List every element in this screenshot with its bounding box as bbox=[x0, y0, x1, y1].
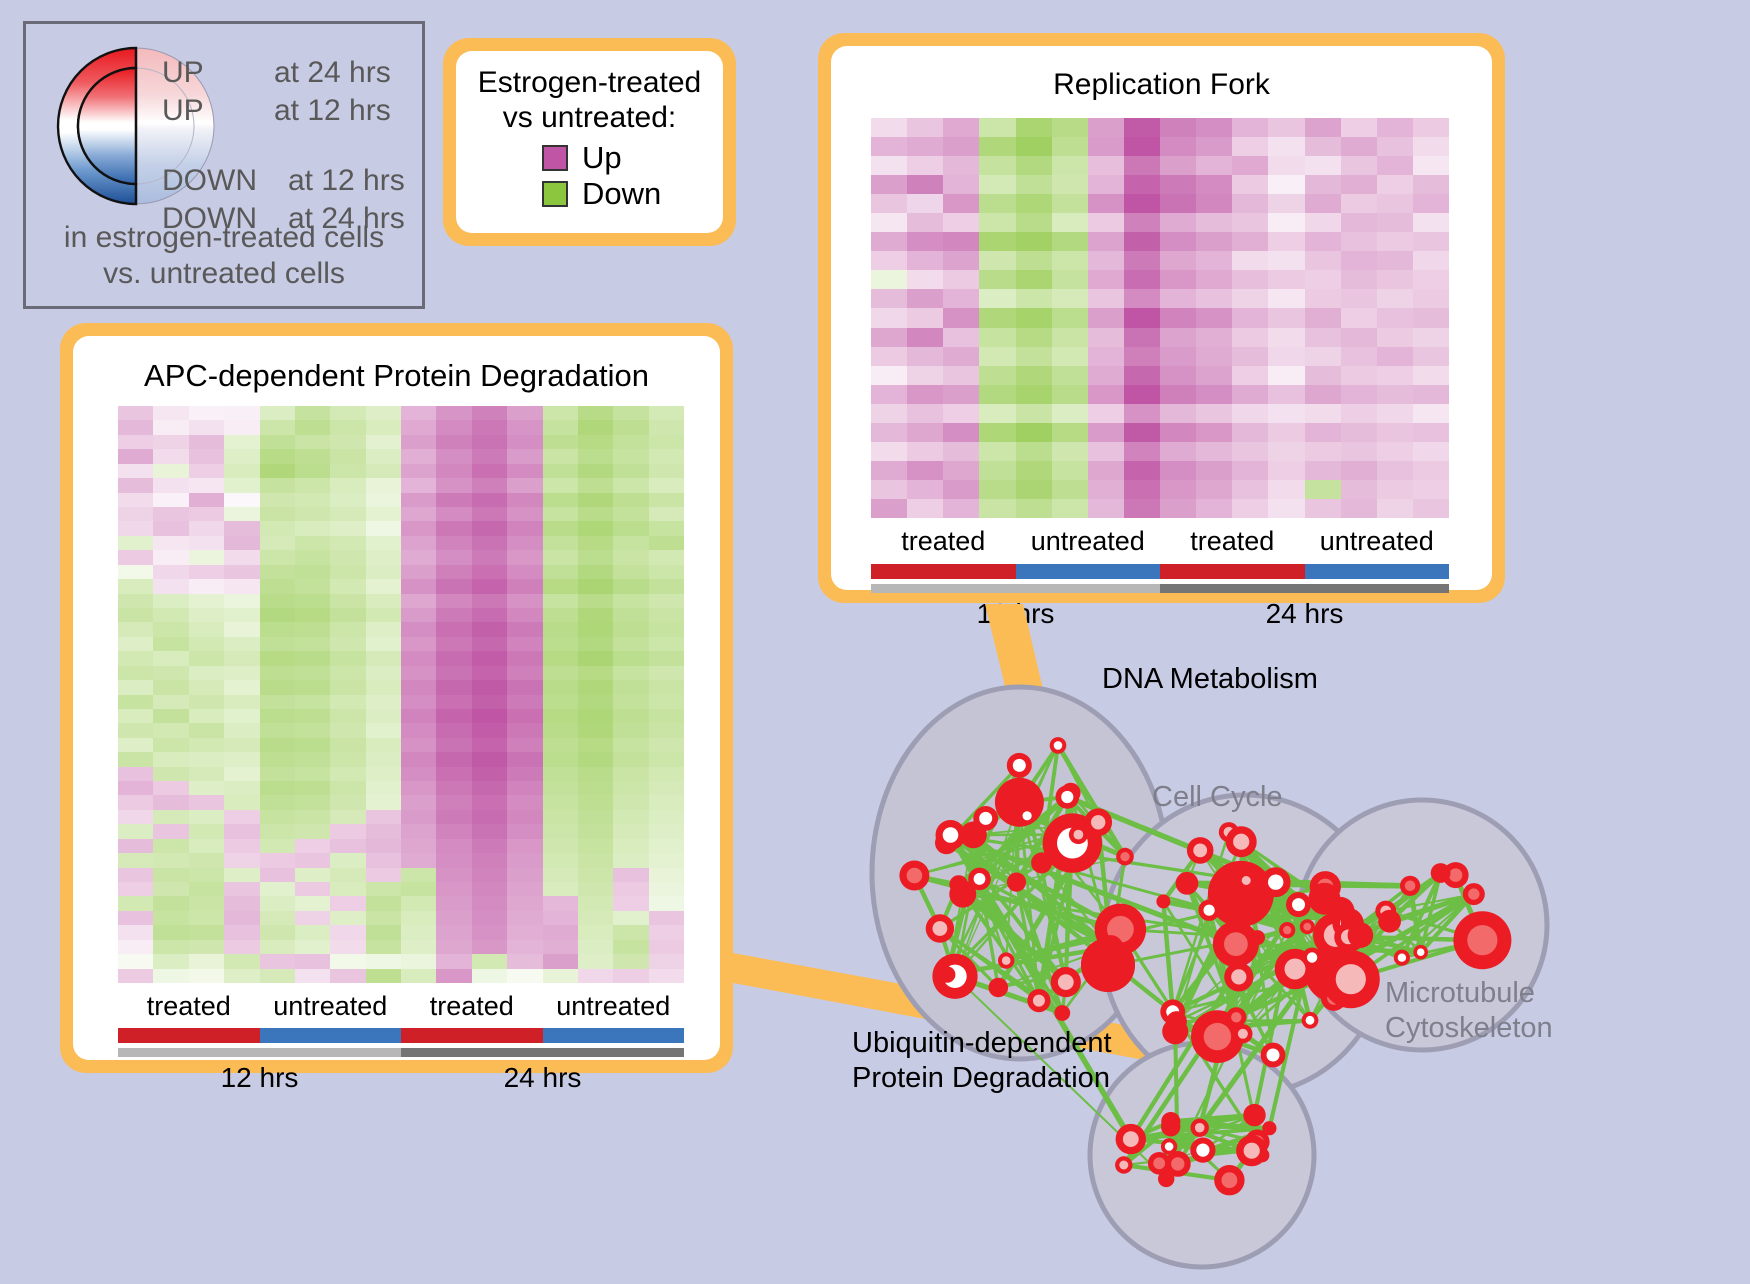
network-node[interactable] bbox=[1453, 911, 1511, 969]
network-node[interactable] bbox=[1261, 1043, 1286, 1068]
heatmap-cell bbox=[330, 781, 365, 795]
heatmap-cell bbox=[224, 969, 259, 983]
replication-fork-heatmap bbox=[871, 118, 1449, 518]
network-node[interactable] bbox=[1116, 848, 1134, 866]
heatmap-cell bbox=[366, 435, 401, 449]
heatmap-cell bbox=[118, 550, 153, 564]
heatmap-cell bbox=[330, 738, 365, 752]
heatmap-cell bbox=[1341, 308, 1377, 327]
heatmap-cell bbox=[189, 810, 224, 824]
column-group-label: treated bbox=[401, 991, 543, 1022]
heatmap-cell bbox=[1377, 156, 1413, 175]
heatmap-cell bbox=[1305, 175, 1341, 194]
network-node[interactable] bbox=[1054, 1005, 1070, 1021]
heatmap-cell bbox=[153, 637, 188, 651]
heatmap-cell bbox=[578, 651, 613, 665]
network-node[interactable] bbox=[1166, 1011, 1187, 1032]
heatmap-cell bbox=[330, 637, 365, 651]
network-node[interactable] bbox=[1431, 863, 1451, 883]
heatmap-cell bbox=[118, 925, 153, 939]
heatmap-cell bbox=[543, 608, 578, 622]
heatmap-cell bbox=[224, 666, 259, 680]
heatmap-cell bbox=[224, 449, 259, 463]
heatmap-cell bbox=[260, 723, 295, 737]
network-node[interactable] bbox=[1198, 900, 1219, 921]
heatmap-cell bbox=[189, 406, 224, 420]
heatmap-cell bbox=[1124, 213, 1160, 232]
network-node[interactable] bbox=[1233, 1024, 1252, 1043]
heatmap-cell bbox=[1124, 404, 1160, 423]
heatmap-cell bbox=[1052, 404, 1088, 423]
heatmap-cell bbox=[507, 969, 542, 983]
network-node[interactable] bbox=[1187, 837, 1214, 864]
heatmap-cell bbox=[295, 622, 330, 636]
heatmap-cell bbox=[189, 911, 224, 925]
network-node[interactable] bbox=[1238, 872, 1255, 889]
heatmap-cell bbox=[260, 435, 295, 449]
treatment-bar bbox=[118, 1028, 260, 1043]
heatmap-cell bbox=[472, 810, 507, 824]
heatmap-cell bbox=[1305, 213, 1341, 232]
heatmap-cell bbox=[118, 507, 153, 521]
heatmap-cell bbox=[1341, 137, 1377, 156]
network-node-core bbox=[1023, 811, 1032, 820]
network-node[interactable] bbox=[1279, 922, 1295, 938]
heatmap-cell bbox=[153, 608, 188, 622]
heatmap-cell bbox=[1196, 251, 1232, 270]
heatmap-cell bbox=[543, 824, 578, 838]
heatmap-cell bbox=[543, 882, 578, 896]
network-node[interactable] bbox=[1236, 1135, 1267, 1166]
heatmap-cell bbox=[943, 175, 979, 194]
heatmap-cell bbox=[224, 493, 259, 507]
heatmap-cell bbox=[436, 464, 471, 478]
heatmap-cell bbox=[189, 507, 224, 521]
network-node[interactable] bbox=[989, 978, 1009, 998]
heatmap-cell bbox=[118, 420, 153, 434]
heatmap-cell bbox=[295, 449, 330, 463]
heatmap-cell bbox=[613, 752, 648, 766]
heatmap-cell bbox=[330, 449, 365, 463]
heatmap-cell bbox=[543, 666, 578, 680]
network-node[interactable] bbox=[1400, 876, 1420, 896]
heatmap-cell bbox=[401, 449, 436, 463]
network-node[interactable] bbox=[939, 966, 955, 982]
network-node-core bbox=[1306, 1016, 1315, 1025]
heatmap-cell bbox=[1341, 461, 1377, 480]
network-node[interactable] bbox=[1463, 883, 1485, 905]
network-node[interactable] bbox=[1308, 883, 1340, 915]
heatmap-cell bbox=[260, 464, 295, 478]
heatmap-cell bbox=[543, 420, 578, 434]
network-node-core bbox=[1233, 834, 1249, 850]
time-bar bbox=[871, 584, 1160, 593]
heatmap-cell bbox=[507, 478, 542, 492]
heatmap-cell bbox=[507, 868, 542, 882]
heatmap-cell bbox=[1341, 423, 1377, 442]
heatmap-cell bbox=[507, 536, 542, 550]
heatmap-cell bbox=[1377, 232, 1413, 251]
heatmap-cell bbox=[295, 767, 330, 781]
heatmap-cell bbox=[401, 954, 436, 968]
heatmap-cell bbox=[507, 853, 542, 867]
heatmap-cell bbox=[118, 536, 153, 550]
network-node[interactable] bbox=[998, 952, 1014, 968]
heatmap-cell bbox=[578, 579, 613, 593]
heatmap-cell bbox=[189, 594, 224, 608]
heatmap-cell bbox=[649, 579, 684, 593]
heatmap-cell bbox=[507, 781, 542, 795]
heatmap-cell bbox=[189, 695, 224, 709]
heatmap-cell bbox=[224, 752, 259, 766]
heatmap-cell bbox=[1016, 213, 1052, 232]
network-node[interactable] bbox=[1261, 867, 1291, 897]
heatmap-cell bbox=[578, 896, 613, 910]
heatmap-cell bbox=[366, 406, 401, 420]
heatmap-cell bbox=[153, 925, 188, 939]
heatmap-cell bbox=[436, 940, 471, 954]
heatmap-cell bbox=[366, 911, 401, 925]
heatmap-cell bbox=[507, 795, 542, 809]
heatmap-cell bbox=[1088, 461, 1124, 480]
heatmap-cell bbox=[366, 896, 401, 910]
heatmap-cell bbox=[613, 709, 648, 723]
heatmap-cell bbox=[366, 594, 401, 608]
network-node[interactable] bbox=[1213, 921, 1259, 967]
heatmap-cell bbox=[153, 507, 188, 521]
time-bar bbox=[1160, 584, 1449, 593]
heatmap-cell bbox=[260, 810, 295, 824]
column-group-label: treated bbox=[118, 991, 260, 1022]
network-node[interactable] bbox=[1027, 989, 1050, 1012]
heatmap-cell bbox=[1088, 385, 1124, 404]
network-node[interactable] bbox=[1378, 910, 1401, 933]
network-node[interactable] bbox=[1056, 785, 1080, 809]
heatmap-cell bbox=[118, 940, 153, 954]
heatmap-cell bbox=[649, 810, 684, 824]
heatmap-cell bbox=[436, 839, 471, 853]
cluster-label-cell-cycle: Cell Cycle bbox=[1152, 780, 1283, 815]
network-node[interactable] bbox=[1302, 1012, 1319, 1029]
network-node-core bbox=[1267, 1049, 1280, 1062]
heatmap-cell bbox=[330, 954, 365, 968]
network-node[interactable] bbox=[1148, 1152, 1171, 1175]
heatmap-cell bbox=[153, 940, 188, 954]
heatmap-cell bbox=[366, 579, 401, 593]
heatmap-cell bbox=[649, 594, 684, 608]
heatmap-cell bbox=[1232, 175, 1268, 194]
heatmap-cell bbox=[871, 251, 907, 270]
network-node[interactable] bbox=[1031, 852, 1052, 873]
heatmap-cell bbox=[189, 464, 224, 478]
heatmap-cell bbox=[224, 435, 259, 449]
heatmap-cell bbox=[1124, 137, 1160, 156]
heatmap-cell bbox=[401, 795, 436, 809]
heatmap-cell bbox=[507, 608, 542, 622]
network-node[interactable] bbox=[1050, 737, 1067, 754]
heatmap-cell bbox=[118, 435, 153, 449]
heatmap-cell bbox=[366, 666, 401, 680]
network-node[interactable] bbox=[1176, 872, 1199, 895]
heatmap-cell bbox=[871, 461, 907, 480]
legend-direction-up12: UP bbox=[162, 94, 204, 128]
network-node-core bbox=[1171, 1157, 1184, 1170]
network-node[interactable] bbox=[1348, 922, 1374, 948]
network-node[interactable] bbox=[1214, 1165, 1244, 1195]
heatmap-cell bbox=[1016, 118, 1052, 137]
heatmap-cell bbox=[1124, 118, 1160, 137]
network-node[interactable] bbox=[1224, 962, 1253, 991]
network-node[interactable] bbox=[1051, 967, 1081, 997]
network-node[interactable] bbox=[1300, 919, 1315, 934]
heatmap-cell bbox=[224, 550, 259, 564]
heatmap-cell bbox=[260, 767, 295, 781]
heatmap-cell bbox=[401, 911, 436, 925]
heatmap-cell bbox=[189, 940, 224, 954]
heatmap-cell bbox=[436, 406, 471, 420]
network-node[interactable] bbox=[1208, 861, 1274, 927]
heatmap-cell bbox=[153, 839, 188, 853]
heatmap-cell bbox=[118, 738, 153, 752]
heatmap-cell bbox=[366, 464, 401, 478]
network-node[interactable] bbox=[1243, 1104, 1265, 1126]
heatmap-cell bbox=[507, 680, 542, 694]
network-node[interactable] bbox=[1161, 1117, 1180, 1136]
heatmap-cell bbox=[543, 406, 578, 420]
heatmap-cell bbox=[436, 579, 471, 593]
heatmap-cell bbox=[472, 464, 507, 478]
network-node[interactable] bbox=[1191, 1119, 1209, 1137]
down-swatch-icon bbox=[542, 181, 568, 207]
heatmap-cell bbox=[507, 911, 542, 925]
network-node[interactable] bbox=[1115, 1156, 1132, 1173]
heatmap-cell bbox=[979, 328, 1015, 347]
heatmap-cell bbox=[1377, 499, 1413, 518]
heatmap-cell bbox=[943, 232, 979, 251]
heatmap-cell bbox=[224, 738, 259, 752]
heatmap-cell bbox=[543, 464, 578, 478]
network-node[interactable] bbox=[1250, 930, 1265, 945]
heatmap-cell bbox=[1377, 423, 1413, 442]
heatmap-cell bbox=[118, 824, 153, 838]
heatmap-cell bbox=[472, 940, 507, 954]
heatmap-cell bbox=[1341, 175, 1377, 194]
heatmap-cell bbox=[907, 347, 943, 366]
network-node[interactable] bbox=[1116, 1124, 1146, 1154]
heatmap-cell bbox=[153, 493, 188, 507]
network-node[interactable] bbox=[1262, 1121, 1276, 1135]
heatmap-cell bbox=[436, 493, 471, 507]
heatmap-cell bbox=[543, 493, 578, 507]
heatmap-cell bbox=[472, 882, 507, 896]
network-node[interactable] bbox=[1286, 892, 1311, 917]
heatmap-cell bbox=[1268, 366, 1304, 385]
heatmap-cell bbox=[118, 868, 153, 882]
network-node-core bbox=[933, 921, 948, 936]
heatmap-cell bbox=[189, 680, 224, 694]
network-node[interactable] bbox=[1302, 948, 1322, 968]
heatmap-cell bbox=[1052, 194, 1088, 213]
heatmap-cell bbox=[907, 385, 943, 404]
heatmap-cell bbox=[260, 565, 295, 579]
heatmap-cell bbox=[543, 449, 578, 463]
heatmap-cell bbox=[1016, 442, 1052, 461]
heatmap-cell bbox=[224, 767, 259, 781]
heatmap-cell bbox=[118, 695, 153, 709]
network-node[interactable] bbox=[1156, 894, 1170, 908]
network-node-core bbox=[1307, 952, 1317, 962]
heatmap-cell bbox=[401, 608, 436, 622]
heatmap-cell bbox=[401, 637, 436, 651]
heatmap-cell bbox=[366, 853, 401, 867]
heatmap-cell bbox=[472, 954, 507, 968]
legend-item-up: Up bbox=[542, 141, 713, 175]
heatmap-cell bbox=[578, 738, 613, 752]
network-node[interactable] bbox=[1226, 826, 1257, 857]
heatmap-cell bbox=[943, 328, 979, 347]
heatmap-cell bbox=[943, 156, 979, 175]
heatmap-cell bbox=[979, 308, 1015, 327]
heatmap-cell bbox=[1341, 289, 1377, 308]
heatmap-cell bbox=[649, 969, 684, 983]
heatmap-cell bbox=[578, 435, 613, 449]
heatmap-cell bbox=[472, 868, 507, 882]
heatmap-cell bbox=[543, 940, 578, 954]
heatmap-cell bbox=[907, 156, 943, 175]
heatmap-cell bbox=[578, 911, 613, 925]
heatmap-cell bbox=[1052, 499, 1088, 518]
network-node[interactable] bbox=[973, 806, 998, 831]
heatmap-cell bbox=[189, 637, 224, 651]
heatmap-cell bbox=[979, 175, 1015, 194]
heatmap-cell bbox=[507, 925, 542, 939]
heatmap-cell bbox=[907, 175, 943, 194]
heatmap-cell bbox=[330, 594, 365, 608]
heatmap-cell bbox=[260, 738, 295, 752]
heatmap-cell bbox=[507, 594, 542, 608]
heatmap-cell bbox=[1196, 232, 1232, 251]
heatmap-cell bbox=[1196, 366, 1232, 385]
heatmap-cell bbox=[224, 781, 259, 795]
heatmap-cell bbox=[118, 579, 153, 593]
treatment-bar bbox=[543, 1028, 685, 1043]
heatmap-cell bbox=[401, 767, 436, 781]
heatmap-cell bbox=[578, 695, 613, 709]
heatmap-cell bbox=[153, 565, 188, 579]
network-node-core bbox=[1303, 923, 1311, 931]
heatmap-cell bbox=[224, 911, 259, 925]
heatmap-cell bbox=[613, 651, 648, 665]
network-node[interactable] bbox=[926, 914, 954, 942]
colorwheel-legend-box: UP at 24 hrs UP at 12 hrs DOWN at 12 hrs… bbox=[23, 21, 425, 309]
heatmap-cell bbox=[436, 435, 471, 449]
heatmap-cell bbox=[436, 478, 471, 492]
network-node[interactable] bbox=[1161, 1138, 1177, 1154]
heatmap-cell bbox=[366, 738, 401, 752]
heatmap-cell bbox=[578, 767, 613, 781]
network-node[interactable] bbox=[1413, 945, 1428, 960]
heatmap-cell bbox=[1052, 461, 1088, 480]
network-node[interactable] bbox=[968, 868, 991, 891]
network-node[interactable] bbox=[1069, 825, 1088, 844]
heatmap-cell bbox=[260, 449, 295, 463]
heatmap-cell bbox=[613, 608, 648, 622]
heatmap-cell bbox=[224, 594, 259, 608]
heatmap-cell bbox=[330, 651, 365, 665]
heatmap-cell bbox=[613, 954, 648, 968]
heatmap-cell bbox=[153, 478, 188, 492]
heatmap-cell bbox=[578, 940, 613, 954]
heatmap-cell bbox=[1052, 442, 1088, 461]
heatmap-cell bbox=[1088, 499, 1124, 518]
heatmap-cell bbox=[1341, 232, 1377, 251]
network-node[interactable] bbox=[936, 820, 966, 850]
network-node[interactable] bbox=[1084, 808, 1112, 836]
network-node-core bbox=[1222, 1172, 1238, 1188]
heatmap-cell bbox=[153, 795, 188, 809]
heatmap-cell bbox=[1268, 194, 1304, 213]
heatmap-cell bbox=[295, 752, 330, 766]
heatmap-cell bbox=[401, 666, 436, 680]
heatmap-cell bbox=[472, 738, 507, 752]
network-node[interactable] bbox=[1322, 950, 1380, 1008]
network-node[interactable] bbox=[1081, 938, 1135, 992]
heatmap-cell bbox=[224, 824, 259, 838]
heatmap-cell bbox=[436, 521, 471, 535]
heatmap-cell bbox=[907, 461, 943, 480]
network-node[interactable] bbox=[1007, 873, 1026, 892]
network-node[interactable] bbox=[899, 861, 929, 891]
heatmap-cell bbox=[472, 723, 507, 737]
network-node[interactable] bbox=[1394, 950, 1410, 966]
network-node-core bbox=[974, 873, 986, 885]
heatmap-cell bbox=[189, 651, 224, 665]
heatmap-cell bbox=[189, 839, 224, 853]
estrogen-legend-inner: Estrogen-treated vs untreated: Up Down bbox=[456, 51, 723, 233]
heatmap-cell bbox=[153, 464, 188, 478]
heatmap-cell bbox=[907, 499, 943, 518]
heatmap-cell bbox=[295, 493, 330, 507]
network-node[interactable] bbox=[1007, 753, 1032, 778]
heatmap-cell bbox=[943, 499, 979, 518]
heatmap-cell bbox=[1377, 308, 1413, 327]
heatmap-cell bbox=[1341, 347, 1377, 366]
heatmap-cell bbox=[507, 521, 542, 535]
heatmap-cell bbox=[260, 550, 295, 564]
network-node[interactable] bbox=[1190, 1138, 1215, 1163]
heatmap-cell bbox=[871, 175, 907, 194]
network-node[interactable] bbox=[1018, 807, 1036, 825]
heatmap-cell bbox=[436, 651, 471, 665]
heatmap-cell bbox=[1196, 442, 1232, 461]
heatmap-cell bbox=[1160, 156, 1196, 175]
heatmap-cell bbox=[578, 969, 613, 983]
column-group-label: untreated bbox=[260, 991, 402, 1022]
heatmap-cell bbox=[1016, 385, 1052, 404]
heatmap-cell bbox=[1160, 328, 1196, 347]
heatmap-cell bbox=[189, 536, 224, 550]
heatmap-cell bbox=[295, 940, 330, 954]
heatmap-cell bbox=[295, 738, 330, 752]
network-node-core bbox=[1061, 791, 1073, 803]
heatmap-cell bbox=[366, 680, 401, 694]
heatmap-cell bbox=[1341, 213, 1377, 232]
heatmap-cell bbox=[436, 709, 471, 723]
heatmap-cell bbox=[1124, 423, 1160, 442]
heatmap-cell bbox=[1160, 289, 1196, 308]
heatmap-cell bbox=[189, 781, 224, 795]
heatmap-cell bbox=[507, 550, 542, 564]
